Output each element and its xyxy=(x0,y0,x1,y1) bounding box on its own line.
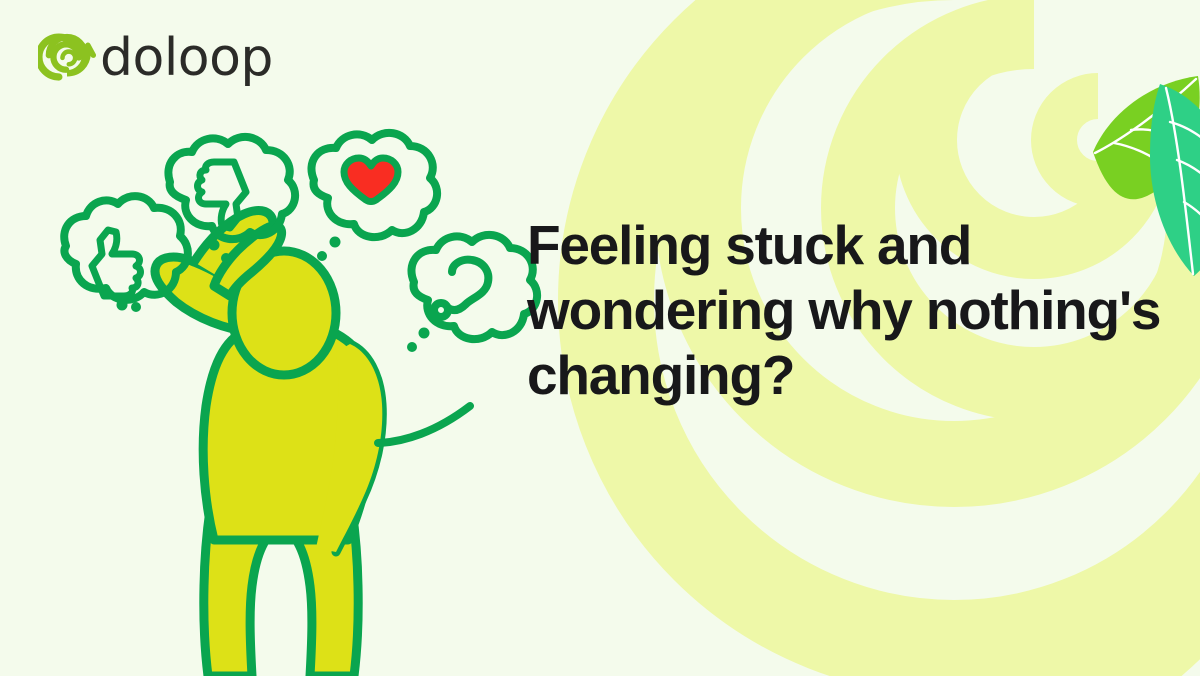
bubble-dot xyxy=(330,237,341,248)
bubble-dot xyxy=(407,342,417,352)
bubble-dot xyxy=(209,240,220,251)
headline: Feeling stuck and wondering why nothing'… xyxy=(527,213,1147,408)
thought-bubble-question xyxy=(407,235,537,352)
bubble-dot xyxy=(117,300,128,311)
bubble-dot xyxy=(221,253,231,263)
thought-bubble-heart xyxy=(311,133,437,261)
question-mark-icon xyxy=(434,260,488,317)
headline-line-1: Feeling stuck and xyxy=(527,213,1147,278)
bubble-dot xyxy=(419,328,430,339)
thumbs-up-icon xyxy=(92,230,141,296)
heart-icon xyxy=(344,158,398,202)
headline-line-3: changing? xyxy=(527,343,1147,408)
promo-banner: doloop xyxy=(0,0,1200,676)
bubble-dot xyxy=(317,251,327,261)
confused-person-figure xyxy=(155,211,382,676)
headline-line-2: wondering why nothing's xyxy=(527,278,1147,343)
thumbs-down-icon xyxy=(198,162,247,228)
shrug-curve-line xyxy=(378,406,470,443)
bubble-dot xyxy=(131,302,141,312)
